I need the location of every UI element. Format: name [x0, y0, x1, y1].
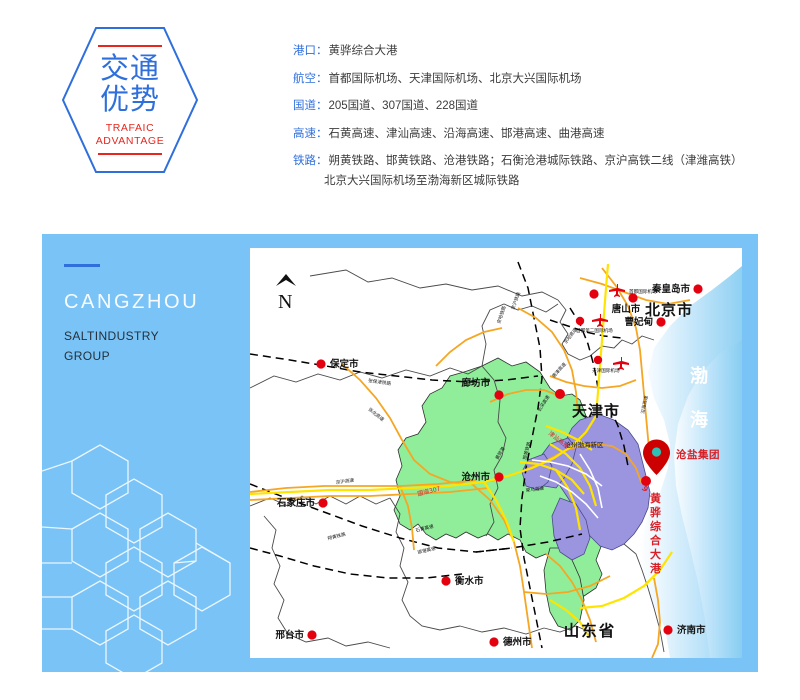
city-dot-daxing [576, 317, 584, 325]
info-sep-aviation: ： [316, 72, 328, 86]
city-label-xingtai: 邢台市 [275, 629, 304, 641]
city-dot-caofeidian [656, 317, 665, 326]
info-value-port: 黄骅综合大港 [329, 44, 398, 58]
city-dot-langfang [494, 390, 503, 399]
info-label-national-road: 国道 [293, 99, 316, 113]
city-dot-tianjin-airport [594, 356, 602, 364]
sea-label-line2: 海 [690, 409, 710, 431]
city-dot-tianjin [555, 389, 565, 399]
city-label-caofeidian: 曹妃甸 [624, 316, 653, 328]
info-sep-railway: ： [316, 154, 328, 168]
city-dot-dezhou [489, 637, 498, 646]
port-label-huanghua-4: 合 [650, 533, 662, 547]
district-label-bohai-new-area: 沧州渤海新区 [565, 440, 605, 449]
city-dot-xingtai [307, 630, 316, 639]
info-row-railway-continued: 北京大兴国际机场至渤海新区城际铁路 [324, 174, 783, 188]
info-value-expressway: 石黄高速、津汕高速、沿海高速、邯港高速、曲港高速 [329, 127, 605, 141]
map-canvas: N 北京市 首都国际机场 首都第二国际机场 保定市 廊坊市 [250, 248, 742, 658]
city-label-qinhuangdao: 秦皇岛市 [651, 283, 691, 295]
city-dot-shijiazhuang [318, 498, 327, 507]
brand-name-en-line2: GROUP [64, 346, 264, 366]
traffic-advantage-badge: 交通 优势 TRAFAIC ADVANTAGE [62, 27, 198, 173]
info-value-national-road: 205国道、307国道、228国道 [329, 99, 479, 113]
info-value-railway-continued: 北京大兴国际机场至渤海新区城际铁路 [324, 174, 520, 188]
city-label-shijiazhuang: 石家庄市 [276, 497, 316, 509]
city-label-cangzhou: 沧州市 [461, 471, 490, 483]
port-label-huanghua-6: 港 [650, 561, 662, 575]
city-dot-tangshan [628, 293, 637, 302]
info-row-aviation: 航空 ： 首都国际机场、天津国际机场、北京大兴国际机场 [293, 72, 783, 86]
info-row-port: 港口 ： 黄骅综合大港 [293, 44, 783, 58]
city-label-hengshui: 衡水市 [455, 575, 484, 587]
city-label-jinan: 济南市 [677, 624, 706, 636]
city-dot-qinhuangdao [693, 284, 702, 293]
highlight-marker-label: 沧盐集团 [676, 448, 720, 461]
brand-rule [64, 264, 100, 267]
port-dot-huanghua [641, 476, 651, 486]
info-label-aviation: 航空 [293, 72, 316, 86]
info-sep-national-road: ： [316, 99, 328, 113]
brand-name-cn: CANGZHOU [64, 290, 264, 314]
province-label-shandong: 山东省 [564, 621, 617, 640]
info-sep-expressway: ： [316, 127, 328, 141]
info-sep-port: ： [316, 44, 328, 58]
map-panel: CANGZHOU SALTINDUSTRY GROUP [42, 234, 758, 672]
info-label-expressway: 高速 [293, 127, 316, 141]
city-label-dezhou: 德州市 [503, 636, 532, 648]
airport-label-tianjin: 天津国际机场 [592, 367, 620, 374]
info-value-aviation: 首都国际机场、天津国际机场、北京大兴国际机场 [329, 72, 582, 86]
port-label-huanghua-3: 综 [650, 519, 661, 533]
city-label-tangshan: 唐山市 [612, 303, 641, 315]
airport-label-daxing: 首都第二国际机场 [576, 327, 613, 334]
city-label-langfang: 廊坊市 [461, 377, 490, 389]
brand-block: CANGZHOU SALTINDUSTRY GROUP [64, 264, 264, 366]
info-row-national-road: 国道 ： 205国道、307国道、228国道 [293, 99, 783, 113]
city-label-tianjin: 天津市 [572, 402, 620, 420]
region-map[interactable]: N 北京市 首都国际机场 首都第二国际机场 保定市 廊坊市 [250, 248, 742, 658]
svg-text:N: N [278, 291, 292, 313]
city-dot-beijing [589, 289, 598, 298]
info-value-railway: 朔黄铁路、邯黄铁路、沧港铁路；石衡沧港城际铁路、京沪高铁二线（津潍高铁） [329, 154, 743, 168]
header-section: 交通 优势 TRAFAIC ADVANTAGE 港口 ： 黄骅综合大港 航空 ：… [0, 0, 800, 215]
port-label-huanghua-2: 骅 [650, 505, 661, 519]
info-label-railway: 铁路 [293, 154, 316, 168]
city-dot-hengshui [441, 576, 450, 585]
info-label-port: 港口 [293, 44, 316, 58]
city-dot-jinan [663, 625, 672, 634]
badge-title-line2: 优势 [100, 84, 160, 115]
badge-bottom-rule [98, 153, 162, 155]
sea-label-line1: 渤 [690, 365, 710, 387]
honeycomb-pattern-icon [42, 439, 272, 672]
port-label-huanghua-1: 黄 [650, 491, 661, 505]
badge-subtitle-line1: TRAFAIC [106, 122, 155, 135]
badge-title-line1: 交通 [100, 53, 160, 84]
city-dot-cangzhou [494, 472, 503, 481]
city-dot-baoding [316, 359, 325, 368]
port-label-huanghua-5: 大 [650, 547, 661, 561]
info-row-railway: 铁路 ： 朔黄铁路、邯黄铁路、沧港铁路；石衡沧港城际铁路、京沪高铁二线（津潍高铁… [293, 154, 783, 168]
badge-top-rule [98, 45, 162, 47]
badge-subtitle-line2: ADVANTAGE [96, 135, 165, 148]
city-label-baoding: 保定市 [329, 358, 359, 370]
transport-info-list: 港口 ： 黄骅综合大港 航空 ： 首都国际机场、天津国际机场、北京大兴国际机场 … [293, 44, 783, 188]
brand-name-en-line1: SALTINDUSTRY [64, 326, 264, 346]
info-row-expressway: 高速 ： 石黄高速、津汕高速、沿海高速、邯港高速、曲港高速 [293, 127, 783, 141]
